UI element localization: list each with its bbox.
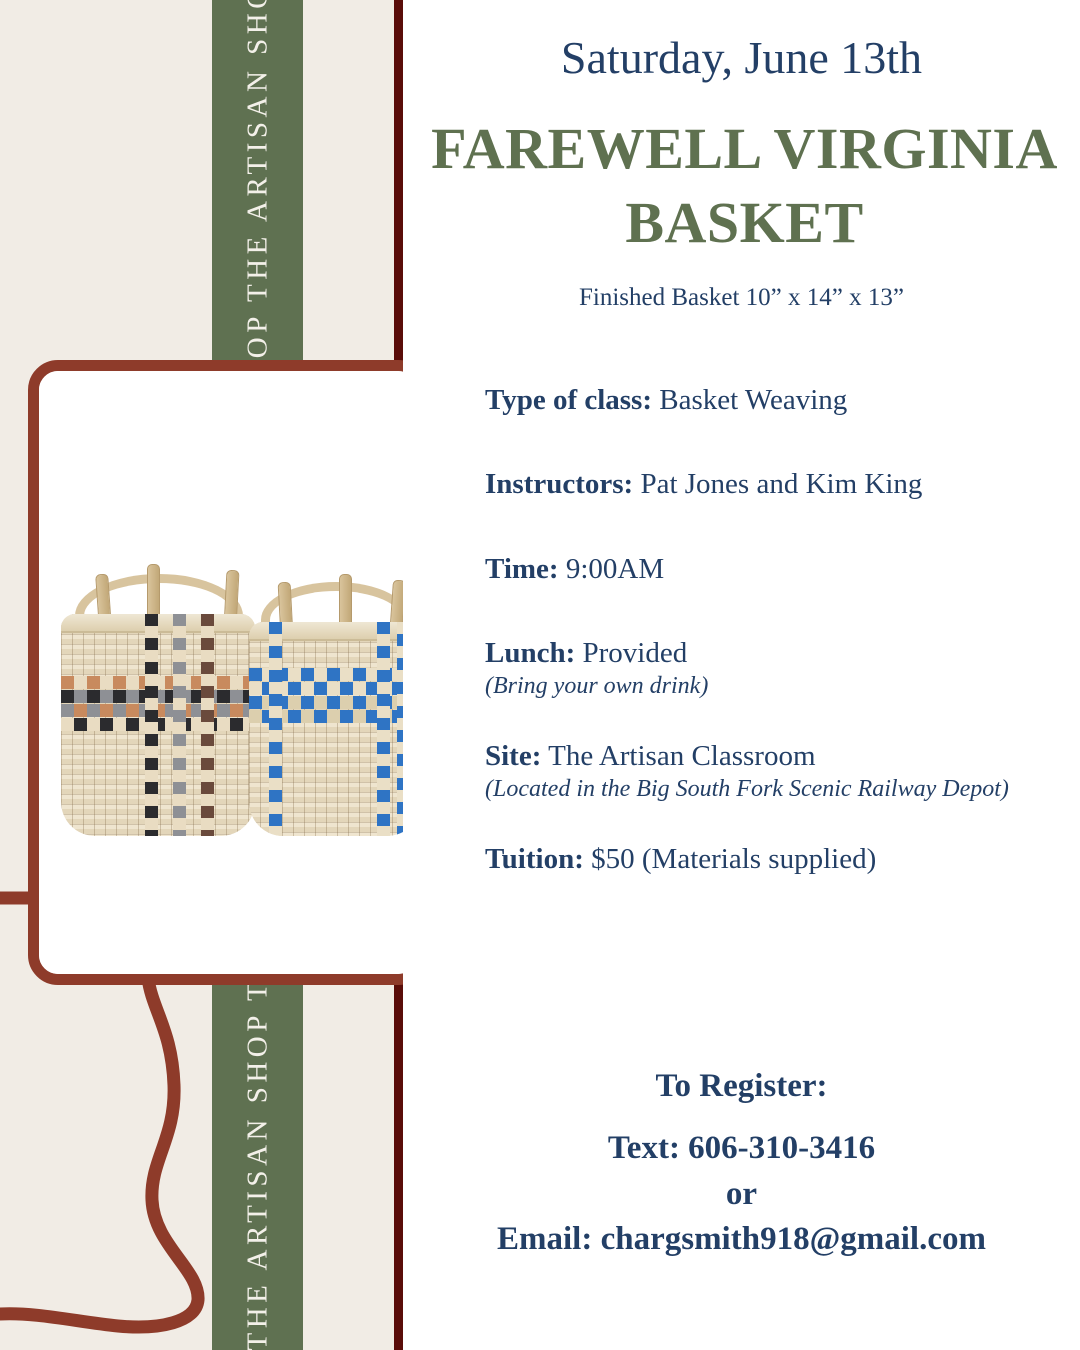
event-date: Saturday, June 13th [403, 33, 1080, 83]
detail-instructors-label: Instructors: [485, 468, 633, 500]
basket-photo [39, 371, 417, 974]
detail-site: Site: The Artisan Classroom [485, 740, 1064, 772]
detail-instructors-value: Pat Jones and Kim King [633, 468, 922, 500]
detail-lunch-label: Lunch: [485, 637, 575, 669]
page-title: FAREWELL VIRGINIA BASKET [427, 112, 1062, 260]
flyer-page: THE ARTISAN SHOP THE ARTISAN SHOP THE AR… [0, 0, 1080, 1350]
registration-text-number[interactable]: Text: 606-310-3416 [403, 1126, 1080, 1172]
detail-tuition-value: $50 (Materials supplied) [584, 843, 876, 875]
basket-left-vertical-black [145, 614, 158, 836]
detail-tuition-label: Tuition: [485, 843, 584, 875]
basket-left-gray-band [61, 704, 255, 717]
basket-right-vertical-blue-1 [269, 622, 282, 836]
basket-right-vertical-blue-2 [377, 622, 390, 836]
basket-left-rim [61, 614, 255, 633]
detail-lunch-note: (Bring your own drink) [485, 672, 1064, 700]
detail-site-label: Site: [485, 740, 541, 772]
registration-or: or [403, 1172, 1080, 1218]
detail-time-label: Time: [485, 553, 559, 585]
class-details-list: Type of class: Basket Weaving Instructor… [485, 384, 1064, 875]
detail-type-of-class-label: Type of class: [485, 384, 652, 416]
basket-left [61, 614, 255, 836]
basket-left-accent-band [61, 718, 255, 731]
page-title-line-2: BASKET [427, 186, 1062, 260]
detail-tuition: Tuition: $50 (Materials supplied) [485, 843, 1064, 875]
registration-block: To Register: Text: 606-310-3416 or Email… [403, 1068, 1080, 1263]
basket-left-vertical-brown [201, 614, 214, 836]
detail-instructors: Instructors: Pat Jones and Kim King [485, 468, 1064, 500]
basket-left-black-band [61, 690, 255, 703]
detail-lunch: Lunch: Provided [485, 637, 1064, 669]
left-decorative-panel: THE ARTISAN SHOP THE ARTISAN SHOP THE AR… [0, 0, 395, 1350]
detail-time-value: 9:00AM [559, 553, 665, 585]
page-title-line-1: FAREWELL VIRGINIA [427, 112, 1062, 186]
registration-heading: To Register: [403, 1068, 1080, 1104]
basket-photo-card [28, 360, 428, 985]
basket-left-copper-band [61, 676, 255, 689]
detail-lunch-value: Provided [575, 637, 687, 669]
detail-type-of-class-value: Basket Weaving [652, 384, 847, 416]
detail-site-note: (Located in the Big South Fork Scenic Ra… [485, 775, 1064, 803]
detail-site-value: The Artisan Classroom [541, 740, 815, 772]
detail-time: Time: 9:00AM [485, 553, 1064, 585]
detail-type-of-class: Type of class: Basket Weaving [485, 384, 1064, 416]
content-column: Saturday, June 13th FAREWELL VIRGINIA BA… [403, 0, 1080, 1350]
basket-right [249, 622, 421, 836]
registration-email[interactable]: Email: chargsmith918@gmail.com [403, 1217, 1080, 1263]
basket-dimensions: Finished Basket 10” x 14” x 13” [403, 284, 1080, 312]
basket-left-vertical-gray [173, 614, 186, 836]
basket-illustration [39, 556, 417, 856]
